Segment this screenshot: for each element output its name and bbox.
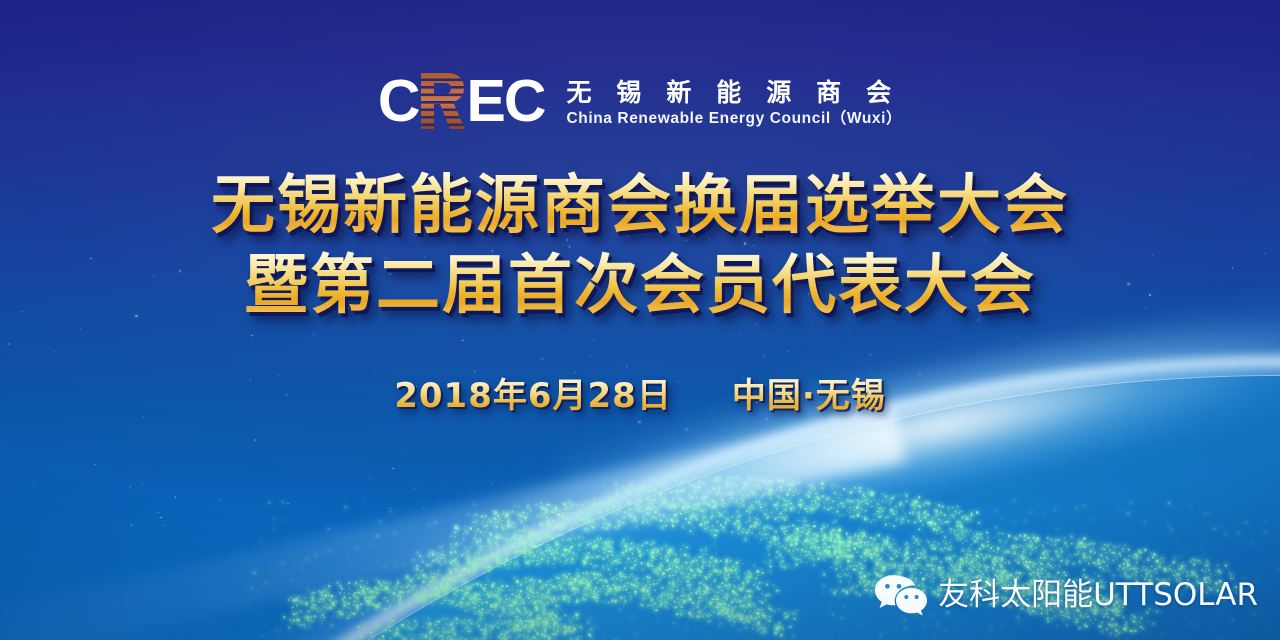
event-dateline: 2018年6月28日 中国·无锡	[0, 374, 1280, 418]
event-date: 2018年6月28日	[394, 374, 672, 418]
wechat-icon	[874, 574, 928, 616]
wechat-watermark: 友科太阳能UTTSOLAR	[874, 574, 1258, 616]
event-title-line-2: 暨第二届首次会员代表大会	[0, 248, 1280, 324]
logo-letter-c2: C	[504, 72, 545, 130]
solar-panel-r-icon	[419, 73, 465, 129]
event-title: 无锡新能源商会换届选举大会 暨第二届首次会员代表大会	[0, 168, 1280, 324]
organization-name-cn: 无 锡 新 能 源 商 会	[566, 79, 902, 107]
cec-logo: C	[0, 72, 1280, 142]
cec-logo-mark: C	[378, 72, 545, 130]
conference-banner: C	[0, 0, 1280, 640]
cec-logo-text: 无 锡 新 能 源 商 会 China Renewable Energy Cou…	[566, 72, 902, 134]
logo-letter-e: E	[466, 72, 503, 130]
organization-name-en: China Renewable Energy Council（Wuxi）	[566, 109, 902, 129]
wechat-account-name: 友科太阳能UTTSOLAR	[938, 577, 1258, 613]
event-location: 中国·无锡	[732, 374, 886, 418]
logo-letter-c1: C	[378, 72, 419, 130]
event-title-line-1: 无锡新能源商会换届选举大会	[0, 168, 1280, 244]
